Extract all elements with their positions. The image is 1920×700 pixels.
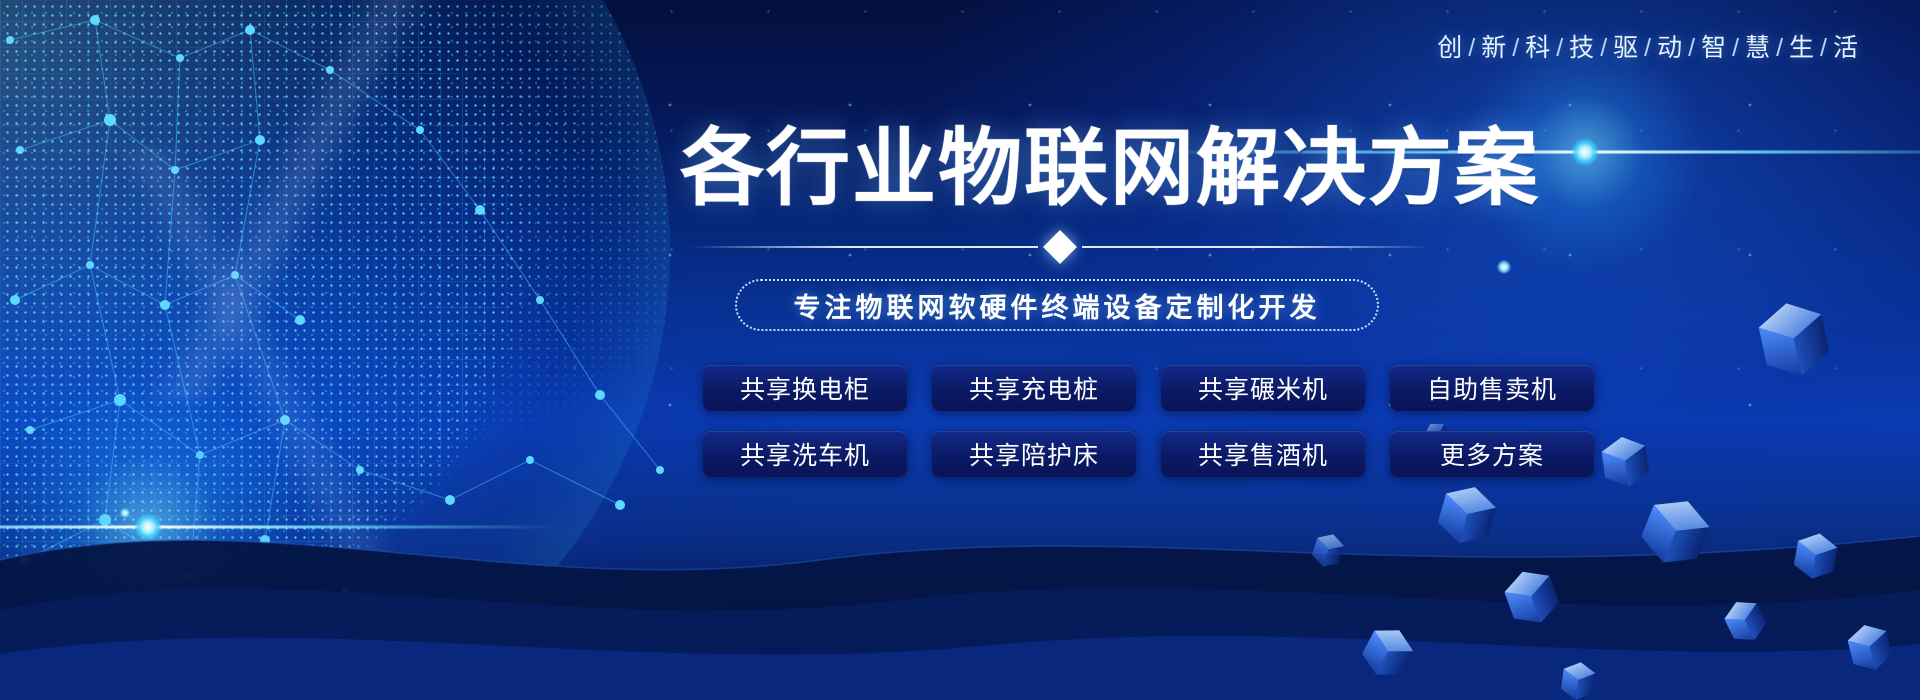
eyebrow-separator: / <box>1468 34 1477 62</box>
solution-button[interactable]: 共享洗车机 <box>703 431 907 477</box>
eyebrow-slogan: 创/新/科/技/驱/动/智/慧/生/活 <box>1437 28 1860 64</box>
eyebrow-char: 驱 <box>1613 34 1640 62</box>
solution-button-row: 共享换电柜共享充电桩共享碾米机自助售卖机 <box>703 365 1594 411</box>
eyebrow-char: 活 <box>1833 34 1860 62</box>
eyebrow-char: 智 <box>1701 34 1728 62</box>
diamond-icon <box>1043 230 1077 264</box>
eyebrow-separator: / <box>1556 34 1565 62</box>
eyebrow-separator: / <box>1820 34 1829 62</box>
eyebrow-char: 技 <box>1569 34 1596 62</box>
eyebrow-separator: / <box>1688 34 1697 62</box>
eyebrow-char: 科 <box>1525 34 1552 62</box>
eyebrow-char: 慧 <box>1745 34 1772 62</box>
solution-button[interactable]: 自助售卖机 <box>1390 365 1594 411</box>
eyebrow-char: 生 <box>1789 34 1816 62</box>
solution-button[interactable]: 共享换电柜 <box>703 365 907 411</box>
iot-solutions-banner: 创/新/科/技/驱/动/智/慧/生/活 各行业物联网解决方案 专注物联网软硬件终… <box>0 0 1920 700</box>
solution-button[interactable]: 共享陪护床 <box>932 431 1136 477</box>
subtitle-pill: 专注物联网软硬件终端设备定制化开发 <box>735 279 1379 331</box>
eyebrow-separator: / <box>1732 34 1741 62</box>
eyebrow-char: 创 <box>1437 34 1464 62</box>
subtitle-text: 专注物联网软硬件终端设备定制化开发 <box>794 286 1321 325</box>
eyebrow-separator: / <box>1776 34 1785 62</box>
eyebrow-separator: / <box>1644 34 1653 62</box>
banner-content: 创/新/科/技/驱/动/智/慧/生/活 各行业物联网解决方案 专注物联网软硬件终… <box>0 0 1920 700</box>
page-title: 各行业物联网解决方案 <box>680 126 1540 210</box>
eyebrow-char: 新 <box>1481 34 1508 62</box>
solution-button[interactable]: 共享充电桩 <box>932 365 1136 411</box>
solution-button[interactable]: 更多方案 <box>1390 431 1594 477</box>
solution-buttons: 共享换电柜共享充电桩共享碾米机自助售卖机共享洗车机共享陪护床共享售酒机更多方案 <box>703 365 1594 497</box>
eyebrow-char: 动 <box>1657 34 1684 62</box>
divider-line-right <box>1082 246 1430 248</box>
eyebrow-separator: / <box>1600 34 1609 62</box>
eyebrow-separator: / <box>1512 34 1521 62</box>
solution-button[interactable]: 共享碾米机 <box>1161 365 1365 411</box>
divider-line-left <box>690 246 1038 248</box>
solution-button-row: 共享洗车机共享陪护床共享售酒机更多方案 <box>703 431 1594 477</box>
title-divider <box>690 230 1430 264</box>
solution-button[interactable]: 共享售酒机 <box>1161 431 1365 477</box>
